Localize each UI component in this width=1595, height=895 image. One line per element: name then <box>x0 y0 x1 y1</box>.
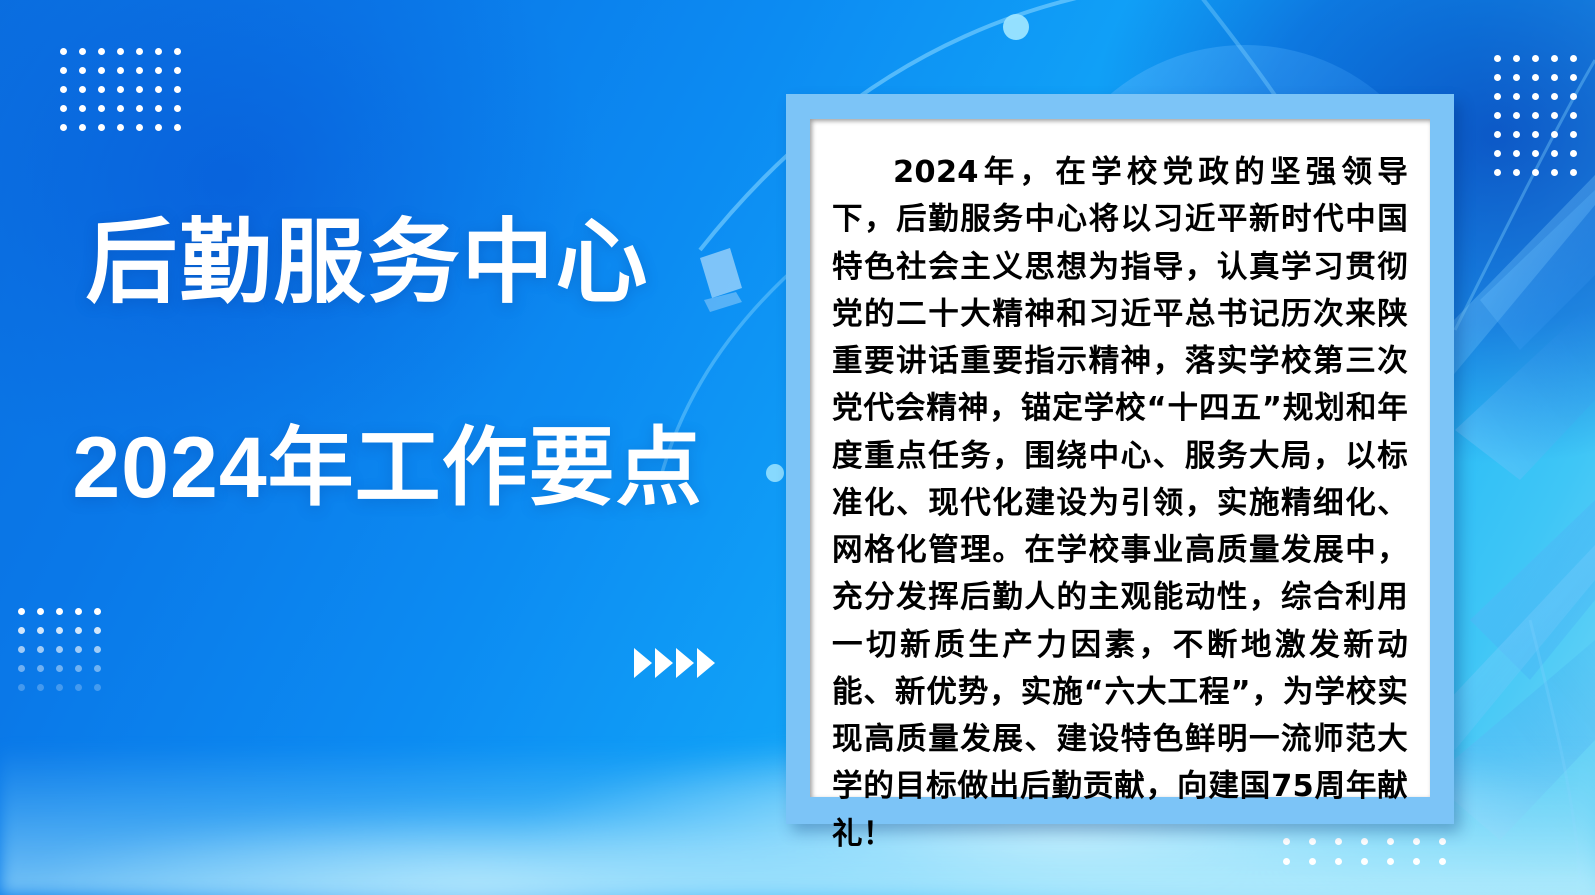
chevron-right-icon <box>634 648 652 678</box>
slide-title-main: 后勤服务中心 <box>0 215 735 312</box>
body-paragraph: 2024年，在学校党政的坚强领导下，后勤服务中心将以习近平新时代中国特色社会主义… <box>832 149 1408 858</box>
chevron-right-icon <box>676 648 694 678</box>
content-panel: 2024年，在学校党政的坚强领导下，后勤服务中心将以习近平新时代中国特色社会主义… <box>786 94 1454 824</box>
slide-title-sub: 2024年工作要点 <box>60 420 715 516</box>
title-column: 后勤服务中心 2024年工作要点 <box>0 0 775 895</box>
slide-canvas: 后勤服务中心 2024年工作要点 2024年，在学校党政的坚强领导下，后勤服务中… <box>0 0 1595 895</box>
chevron-right-icon <box>697 648 715 678</box>
content-panel-inner: 2024年，在学校党政的坚强领导下，后勤服务中心将以习近平新时代中国特色社会主义… <box>810 119 1430 797</box>
chevron-group <box>634 648 715 678</box>
chevron-right-icon <box>655 648 673 678</box>
